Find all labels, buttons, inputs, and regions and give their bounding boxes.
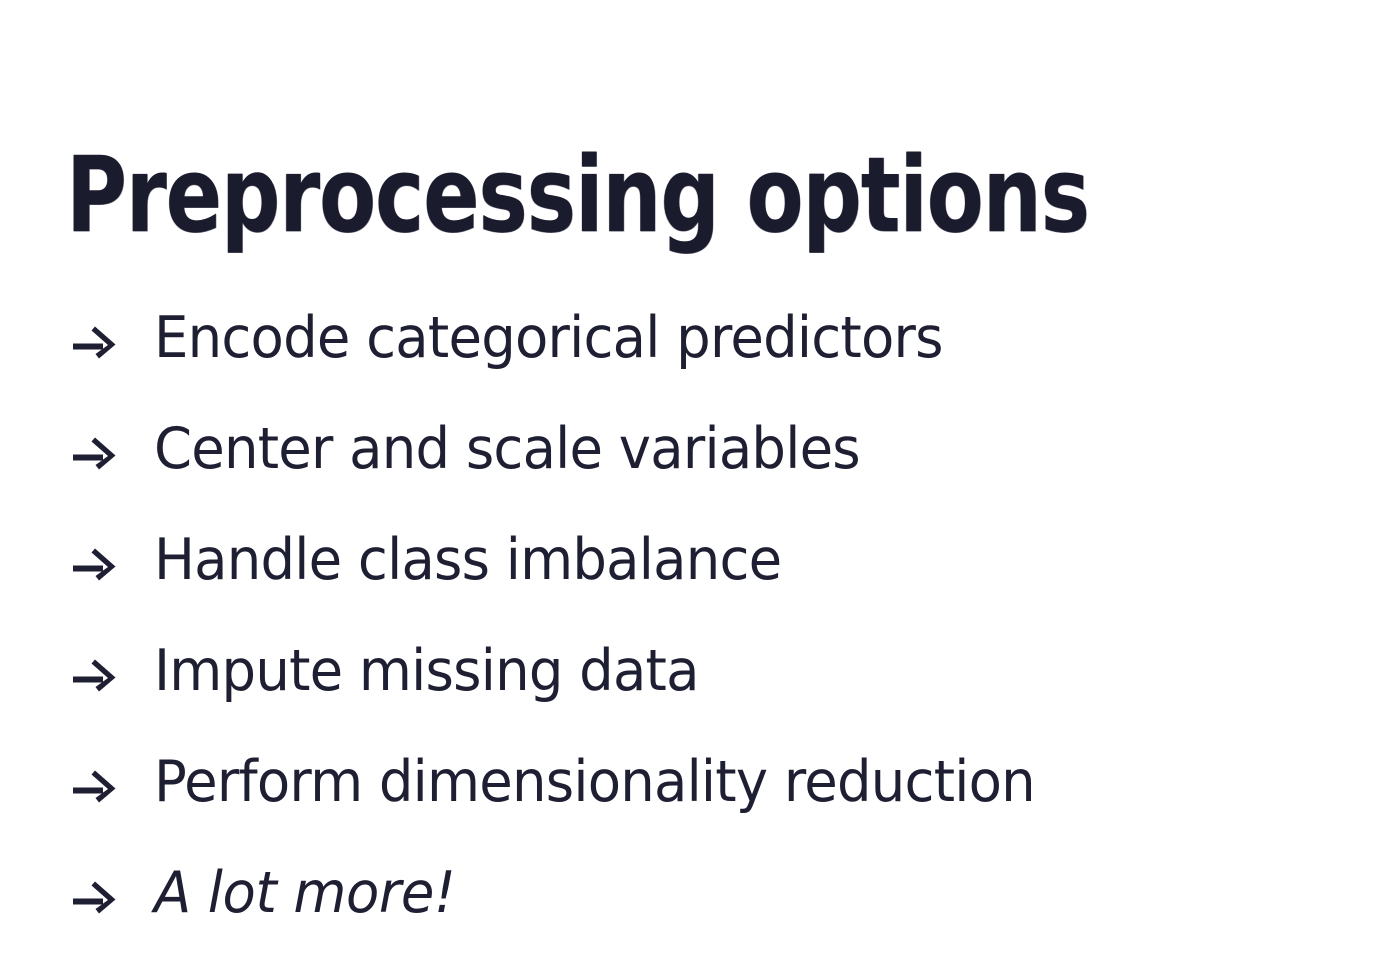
list-item-label: Center and scale variables [154,421,860,478]
list-item-label: A lot more! [154,865,455,922]
arrow-right-icon [70,429,118,473]
list-item: Handle class imbalance [0,505,1388,616]
list-item: Perform dimensionality reduction [0,727,1388,838]
list-item: A lot more! [0,838,1388,949]
slide-title: Preprocessing options [66,134,1089,257]
arrow-right-icon [70,873,118,917]
list-item: Impute missing data [0,616,1388,727]
list-item-label: Impute missing data [154,643,699,700]
arrow-right-icon [70,762,118,806]
arrow-right-icon [70,318,118,362]
list-item-label: Encode categorical predictors [154,310,943,367]
list-item: Center and scale variables [0,394,1388,505]
list-item-label: Perform dimensionality reduction [154,754,1035,811]
arrow-right-icon [70,651,118,695]
arrow-right-icon [70,540,118,584]
preprocessing-options-list: Encode categorical predictors Center and… [0,283,1388,949]
list-item-label: Handle class imbalance [154,532,781,589]
list-item: Encode categorical predictors [0,283,1388,394]
presentation-slide: Preprocessing options Encode categorical… [0,0,1388,976]
